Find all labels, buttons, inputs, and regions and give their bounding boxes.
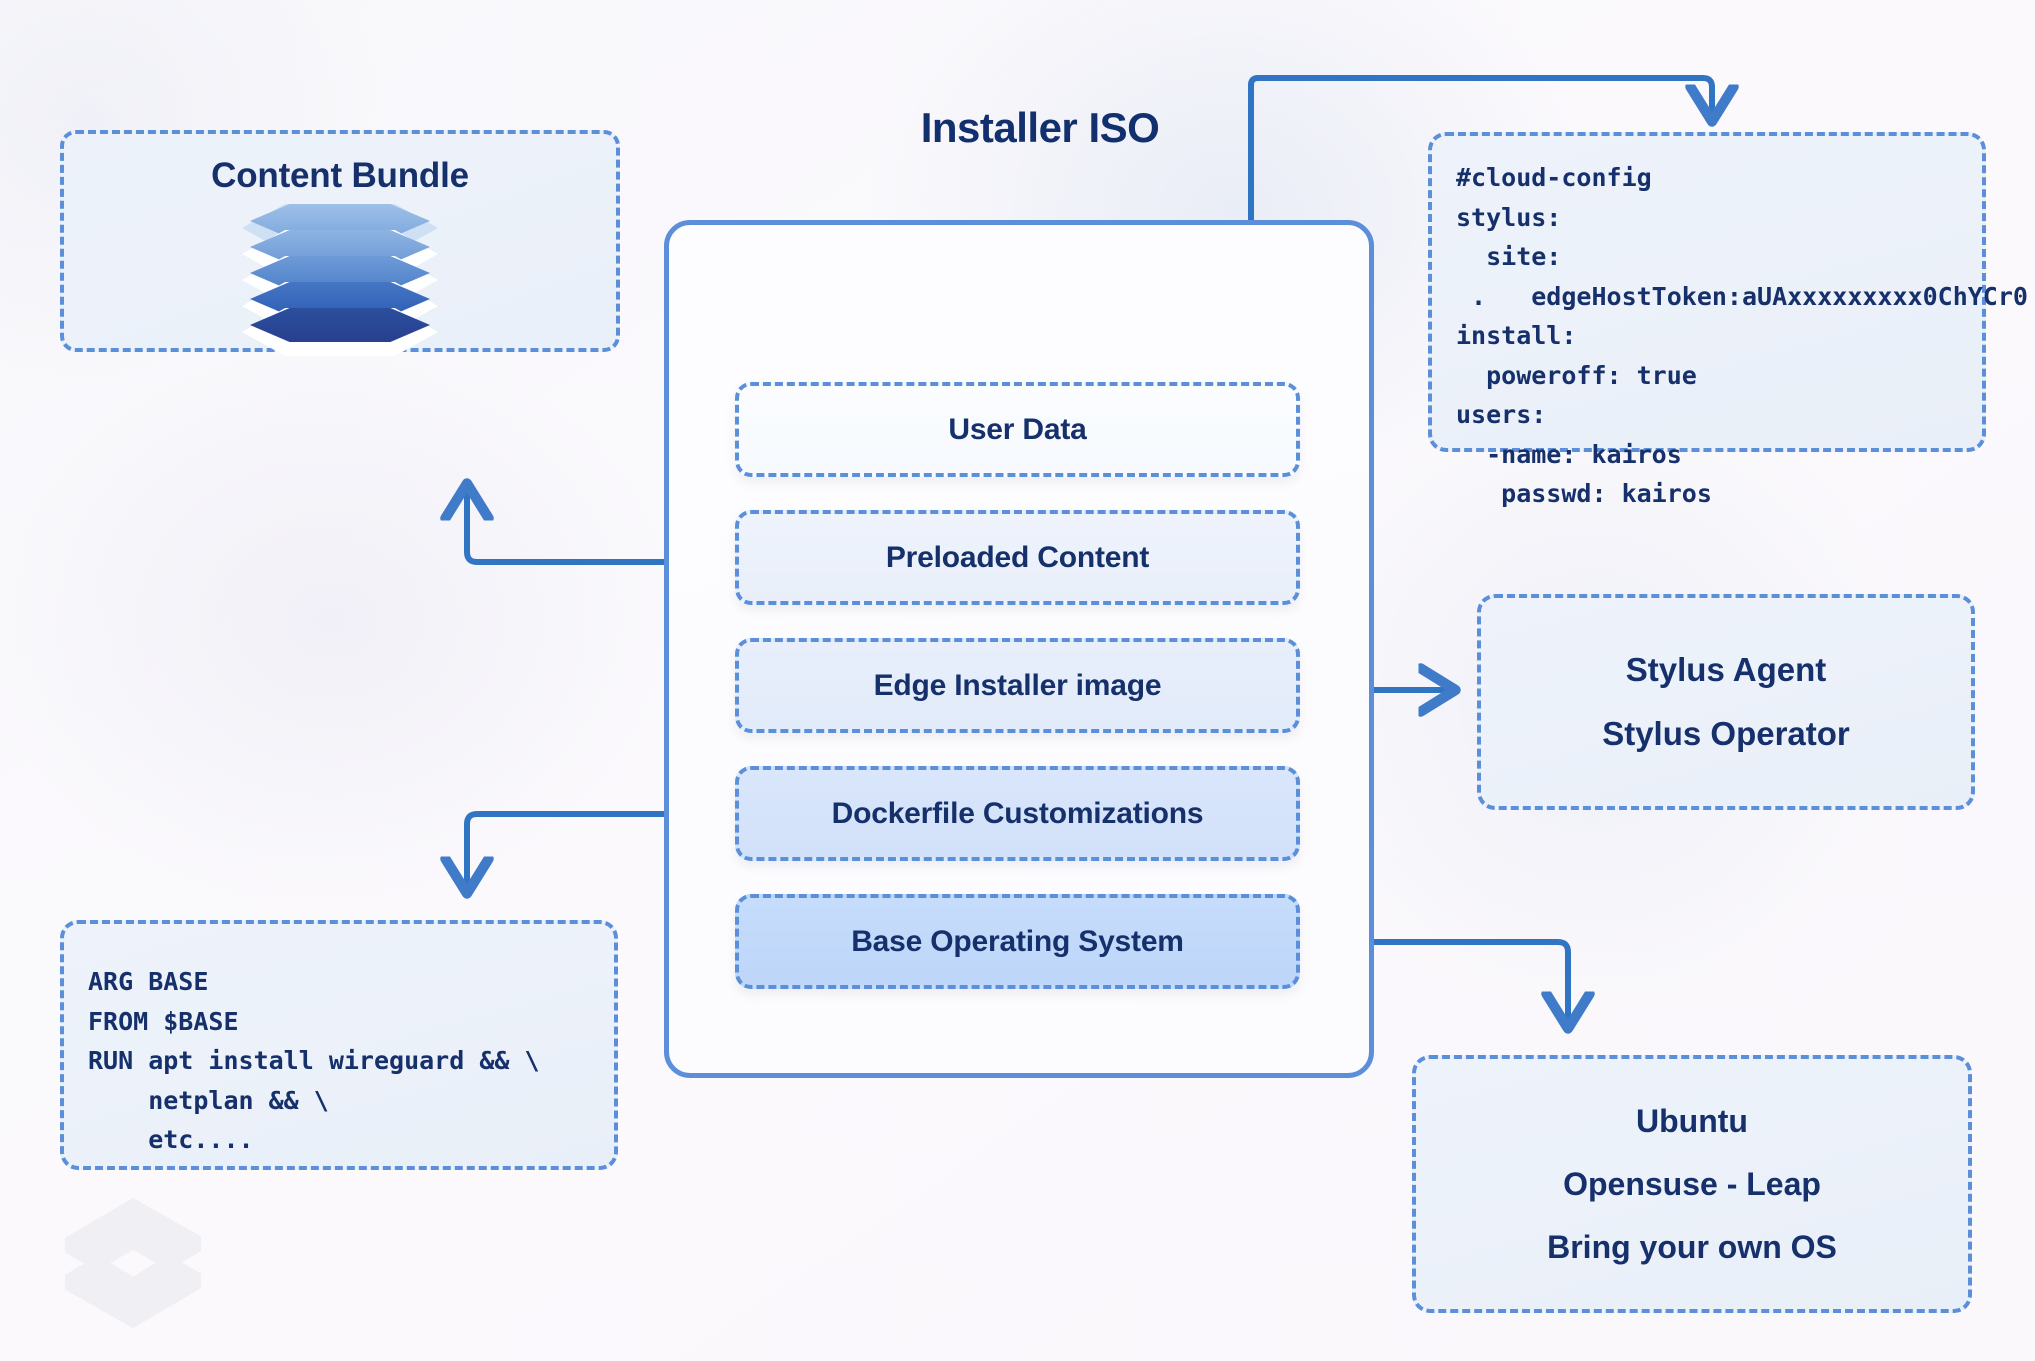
stylus-agent-label: Stylus Agent (1626, 651, 1826, 689)
installer-iso-title: Installer ISO (660, 104, 1420, 152)
iso-item-label: Edge Installer image (874, 669, 1162, 703)
iso-item-dockerfile-customizations[interactable]: Dockerfile Customizations (735, 766, 1300, 861)
stylus-components-card: Stylus Agent Stylus Operator (1477, 594, 1975, 810)
iso-item-base-operating-system[interactable]: Base Operating System (735, 894, 1300, 989)
iso-item-edge-installer-image[interactable]: Edge Installer image (735, 638, 1300, 733)
iso-item-preloaded-content[interactable]: Preloaded Content (735, 510, 1300, 605)
iso-item-label: Dockerfile Customizations (832, 797, 1204, 831)
content-bundle-card: Content Bundle STORAGE NETWORK KUBERNETE (60, 130, 620, 352)
stylus-operator-label: Stylus Operator (1602, 715, 1850, 753)
stack-layer-4: OS (242, 308, 438, 356)
dockerfile-code: ARG BASE FROM $BASE RUN apt install wire… (64, 924, 614, 1160)
diagram-canvas: Content Bundle STORAGE NETWORK KUBERNETE (0, 0, 2035, 1361)
os-options-card: Ubuntu Opensuse - Leap Bring your own OS (1412, 1055, 1972, 1313)
content-bundle-title: Content Bundle (64, 156, 616, 196)
iso-item-label: Preloaded Content (886, 541, 1149, 575)
iso-item-label: Base Operating System (851, 925, 1184, 959)
os-option-bring-your-own: Bring your own OS (1547, 1229, 1837, 1266)
stack-layer-label: OS (242, 343, 438, 353)
cloud-config-code: #cloud-config stylus: site: . edgeHostTo… (1432, 136, 1982, 514)
dockerfile-code-card: ARG BASE FROM $BASE RUN apt install wire… (60, 920, 618, 1170)
os-option-ubuntu: Ubuntu (1636, 1103, 1748, 1140)
cloud-config-card: #cloud-config stylus: site: . edgeHostTo… (1428, 132, 1986, 452)
iso-item-label: User Data (948, 413, 1086, 447)
os-option-opensuse-leap: Opensuse - Leap (1563, 1166, 1821, 1203)
iso-item-user-data[interactable]: User Data (735, 382, 1300, 477)
content-bundle-stack-icon: STORAGE NETWORK KUBERNETES OS (225, 204, 455, 354)
spectro-cloud-logo-watermark (58, 1192, 208, 1334)
